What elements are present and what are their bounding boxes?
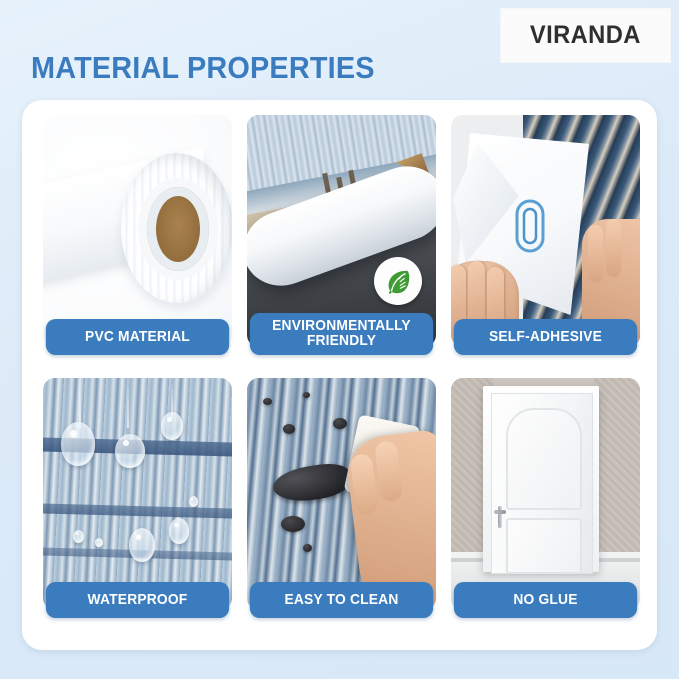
feature-card-self-adhesive[interactable]: SELF-ADHESIVE bbox=[451, 115, 640, 347]
eco-badge bbox=[374, 257, 422, 305]
feature-image-easy-to-clean bbox=[247, 378, 436, 610]
feature-label-no-glue: NO GLUE bbox=[454, 582, 637, 618]
feature-label-text: NO GLUE bbox=[458, 591, 632, 608]
feature-image-self-adhesive bbox=[451, 115, 640, 347]
feature-label-text: SELF-ADHESIVE bbox=[458, 328, 632, 345]
page-title: MATERIAL PROPERTIES bbox=[31, 50, 375, 86]
feature-card-no-glue[interactable]: NO GLUE bbox=[451, 378, 640, 610]
feature-card-environmentally-friendly[interactable]: ENVIRONMENTALLY FRIENDLY bbox=[247, 115, 436, 347]
feature-label-text: WATERPROOF bbox=[50, 591, 224, 608]
feature-image-waterproof bbox=[43, 378, 232, 610]
leaf-icon bbox=[383, 266, 413, 296]
feature-grid: PVC MATERIAL bbox=[43, 115, 641, 625]
door-handle-icon bbox=[494, 506, 506, 528]
feature-label-easy-to-clean: EASY TO CLEAN bbox=[250, 582, 433, 618]
paperclip-icon bbox=[513, 197, 547, 255]
feature-label-text-line1: ENVIRONMENTALLY bbox=[254, 318, 428, 334]
feature-label-text: EASY TO CLEAN bbox=[254, 591, 428, 608]
feature-card-pvc-material[interactable]: PVC MATERIAL bbox=[43, 115, 232, 347]
feature-label-self-adhesive: SELF-ADHESIVE bbox=[454, 319, 637, 355]
feature-label-environmentally-friendly: ENVIRONMENTALLY FRIENDLY bbox=[250, 313, 433, 355]
feature-card-waterproof[interactable]: WATERPROOF bbox=[43, 378, 232, 610]
feature-label-text: PVC MATERIAL bbox=[50, 328, 224, 345]
feature-label-text-line2: FRIENDLY bbox=[254, 333, 428, 349]
feature-label-pvc-material: PVC MATERIAL bbox=[46, 319, 229, 355]
feature-image-pvc-material bbox=[43, 115, 232, 347]
feature-label-waterproof: WATERPROOF bbox=[46, 582, 229, 618]
brand-name: VIRANDA bbox=[530, 21, 641, 50]
feature-image-no-glue bbox=[451, 378, 640, 610]
brand-logo-box: VIRANDA bbox=[501, 9, 670, 62]
header: MATERIAL PROPERTIES VIRANDA bbox=[0, 0, 679, 100]
feature-card-easy-to-clean[interactable]: EASY TO CLEAN bbox=[247, 378, 436, 610]
